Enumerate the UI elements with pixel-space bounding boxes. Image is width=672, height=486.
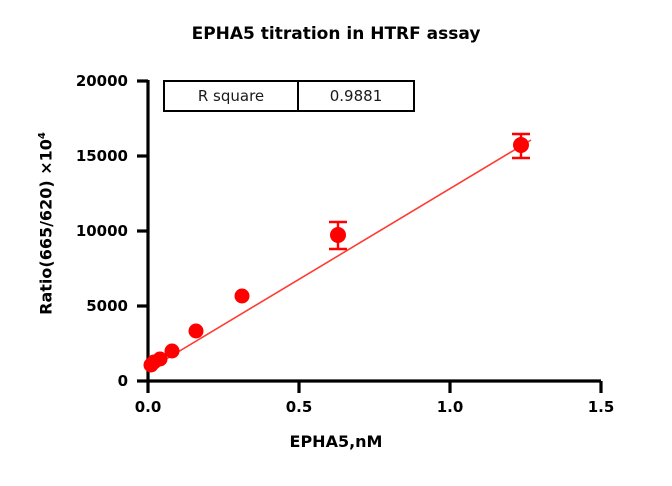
y-tick-label-5000: 5000 (56, 297, 128, 315)
y-tick-label-15000: 15000 (56, 147, 128, 165)
x-tick-label-1-5: 1.5 (571, 398, 631, 416)
r-square-value: 0.9881 (299, 82, 413, 110)
error-bars (329, 134, 530, 249)
r-square-box: R square 0.9881 (163, 80, 415, 112)
y-tick-label-10000: 10000 (56, 222, 128, 240)
x-tick-label-0: 0.0 (118, 398, 178, 416)
data-point (189, 324, 204, 339)
data-point (330, 227, 346, 243)
data-point (235, 289, 250, 304)
regression-line (148, 140, 531, 370)
y-tick-label-0: 0 (56, 372, 128, 390)
y-axis-ticks (137, 81, 148, 381)
x-axis-title: EPHA5,nM (0, 432, 672, 451)
y-tick-label-20000: 20000 (56, 72, 128, 90)
y-axis-title-text: Ratio(665/620) ×10 (37, 139, 56, 315)
chart-container: EPHA5 titration in HTRF assay (0, 0, 672, 486)
x-tick-label-1-0: 1.0 (420, 398, 480, 416)
y-axis-title-exponent: 4 (37, 132, 48, 139)
x-axis-ticks (148, 381, 601, 393)
x-tick-label-0-5: 0.5 (269, 398, 329, 416)
data-point (513, 137, 529, 153)
y-axis-title: Ratio(665/620) ×104 (37, 94, 56, 354)
r-square-label: R square (165, 82, 299, 110)
data-point (165, 344, 180, 359)
